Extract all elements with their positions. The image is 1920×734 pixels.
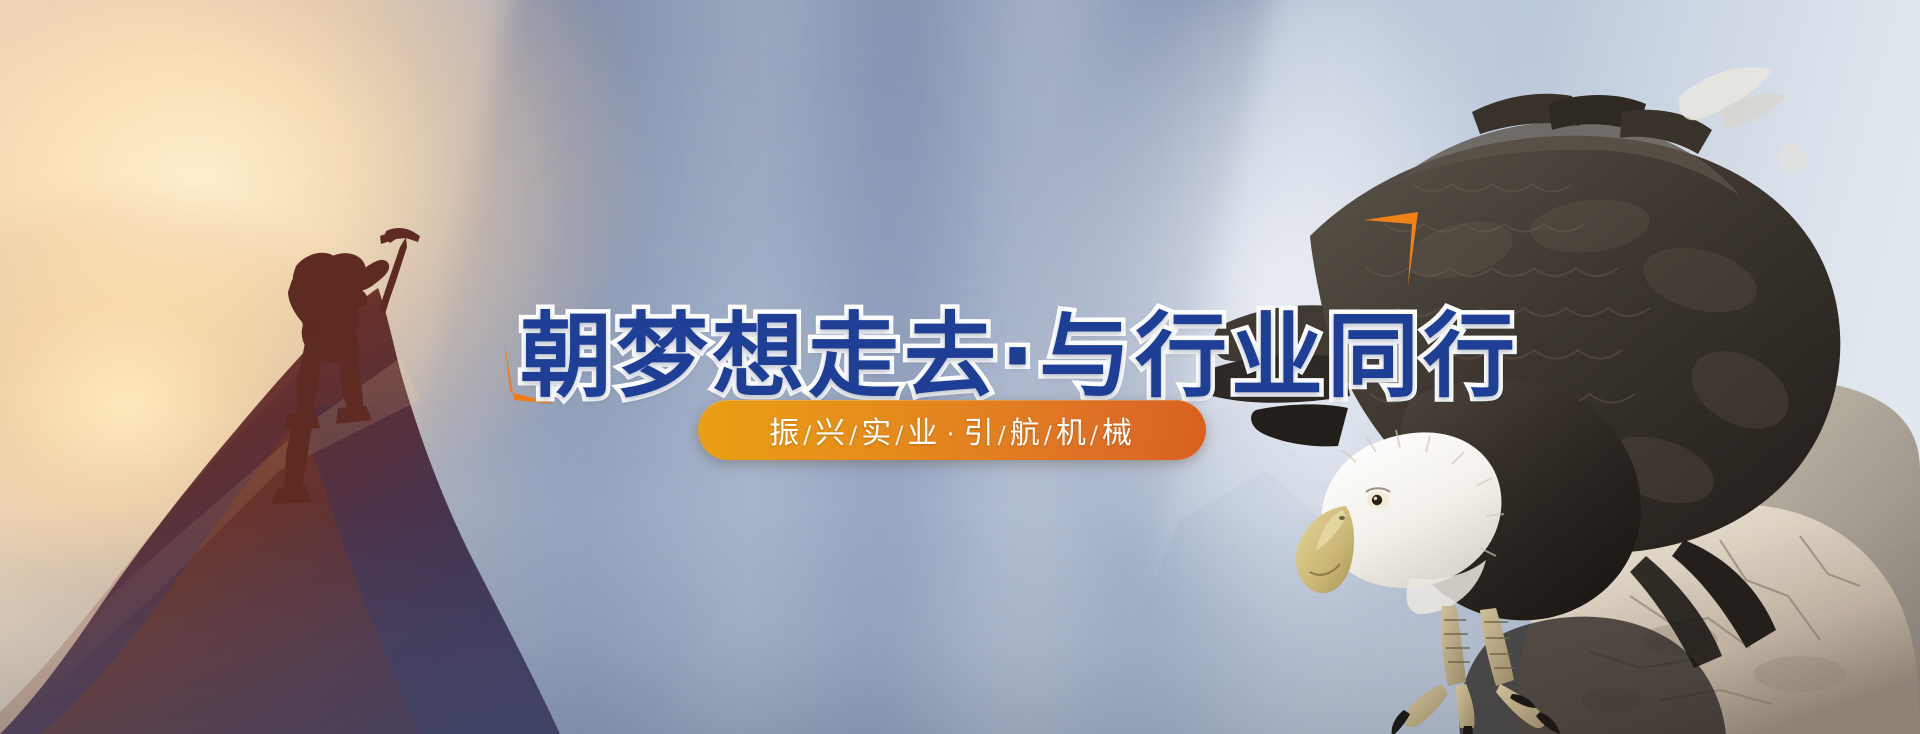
banner-title: 朝梦想走去·与行业同行: [520, 308, 1519, 406]
subtitle-separator: /: [1089, 421, 1102, 449]
subtitle-separator: /: [848, 421, 861, 449]
subtitle-separator: /: [802, 421, 815, 449]
hero-banner: 朝梦想走去·与行业同行 振/兴/实/业·引/航/机/械: [0, 0, 1920, 734]
subtitle-separator: /: [894, 421, 907, 449]
subtitle-separator: /: [1043, 421, 1056, 449]
subtitle-char: 振: [769, 416, 802, 451]
corner-bracket-top-right-icon: [1364, 210, 1426, 288]
subtitle-middot: ·: [940, 420, 963, 450]
banner-subtitle-text: 振/兴/实/业·引/航/机/械: [769, 408, 1135, 452]
banner-subtitle-badge: 振/兴/实/业·引/航/机/械: [698, 400, 1206, 460]
subtitle-char: 机: [1056, 416, 1089, 451]
subtitle-char: 械: [1102, 416, 1135, 451]
subtitle-char: 引: [964, 416, 997, 451]
subtitle-char: 实: [861, 416, 894, 451]
subtitle-char: 航: [1010, 416, 1043, 451]
subtitle-separator: /: [997, 421, 1010, 449]
banner-copy: 朝梦想走去·与行业同行 振/兴/实/业·引/航/机/械: [498, 236, 1438, 498]
subtitle-char: 兴: [815, 416, 848, 451]
subtitle-char: 业: [907, 416, 940, 451]
